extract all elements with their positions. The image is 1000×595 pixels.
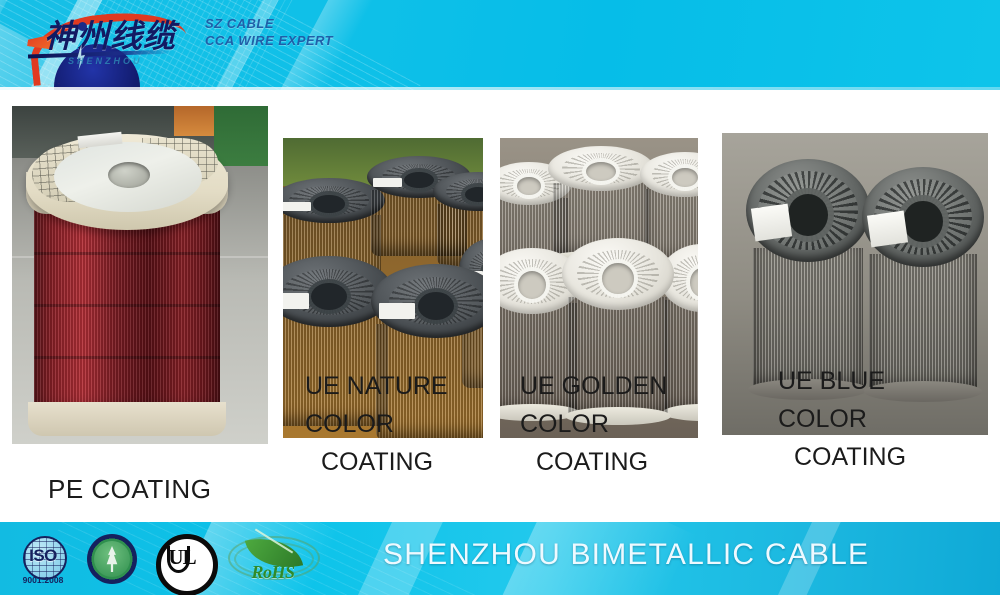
winding-band: [34, 304, 220, 307]
spool-bottom-flange: [28, 402, 226, 436]
product-caption-ue-nature-color: UE NATURE COLOR COATING: [305, 367, 448, 481]
spool-label: [379, 303, 415, 319]
footer-company-title: SHENZHOU BIMETALLIC CABLE: [383, 538, 869, 572]
caption-line: COATING: [305, 443, 448, 481]
caption-line: COLOR: [778, 400, 906, 438]
spool-label: [283, 293, 309, 308]
logo-pinyin: SHENZHOU: [68, 56, 143, 66]
ul-label: UL: [156, 545, 208, 570]
brand-tagline-line-2: CCA WIRE EXPERT: [205, 32, 333, 49]
iso-9001-label: ISO: [20, 546, 66, 566]
spool-center-hole: [672, 168, 697, 187]
caption-line: COATING: [520, 443, 667, 481]
product-showcase: PE COATING UE NATURE COLOR COATING UE GO…: [0, 90, 1000, 522]
rohs-badge: RoHS: [228, 534, 318, 590]
spool-label: [751, 203, 792, 241]
caption-line: UE NATURE: [305, 367, 448, 405]
spool-center-hole: [404, 172, 433, 188]
product-caption-ue-golden-color: UE GOLDEN COLOR COATING: [520, 367, 667, 481]
caption-line: UE BLUE: [778, 362, 906, 400]
iso-14000-badge: [84, 534, 140, 588]
winding-band: [34, 252, 220, 255]
spool-center-hole: [586, 162, 616, 181]
spool-label: [283, 202, 311, 212]
spool-center-hole: [108, 162, 150, 188]
product-banner-page: 神州线缆 SHENZHOU SZ CABLE CCA WIRE EXPERT: [0, 0, 1000, 595]
page-header: 神州线缆 SHENZHOU SZ CABLE CCA WIRE EXPERT: [0, 0, 1000, 90]
logo-chinese-name: 神州线缆: [44, 14, 214, 58]
spool-center-hole: [788, 194, 828, 236]
caption-line: PE COATING: [48, 474, 211, 505]
brand-tagline: SZ CABLE CCA WIRE EXPERT: [205, 15, 333, 49]
caption-line: COLOR: [305, 405, 448, 443]
caption-line: UE GOLDEN: [520, 367, 667, 405]
product-caption-pe-coating: PE COATING: [48, 474, 211, 505]
spool-center-hole: [903, 201, 942, 242]
rohs-label: RoHS: [228, 562, 318, 583]
winding-band: [34, 356, 220, 359]
wire-winding-red: [34, 198, 220, 420]
spool-label: [867, 210, 908, 247]
brand-tagline-line-1: SZ CABLE: [205, 15, 333, 32]
spool-center-hole: [313, 195, 344, 212]
blue-spool: [862, 167, 984, 395]
product-caption-ue-blue-color: UE BLUE COLOR COATING: [778, 362, 906, 476]
iso-9001-sublabel: 9001:2008: [14, 575, 72, 585]
product-photo-pe-coating: [12, 106, 268, 444]
spool-center-hole: [465, 187, 483, 202]
logo-dot-icon: [78, 22, 87, 31]
caption-line: COLOR: [520, 405, 667, 443]
ul-badge: UL: [156, 534, 210, 588]
photo-background-green: [214, 106, 268, 166]
photo-background-copper: [174, 106, 214, 136]
caption-line: COATING: [778, 438, 906, 476]
iso-9001-badge: ISO 9001:2008: [14, 536, 72, 588]
spool-center-hole: [602, 263, 633, 294]
spool-label: [373, 178, 402, 187]
company-logo: 神州线缆 SHENZHOU: [20, 4, 210, 86]
blue-spool: [746, 159, 870, 393]
